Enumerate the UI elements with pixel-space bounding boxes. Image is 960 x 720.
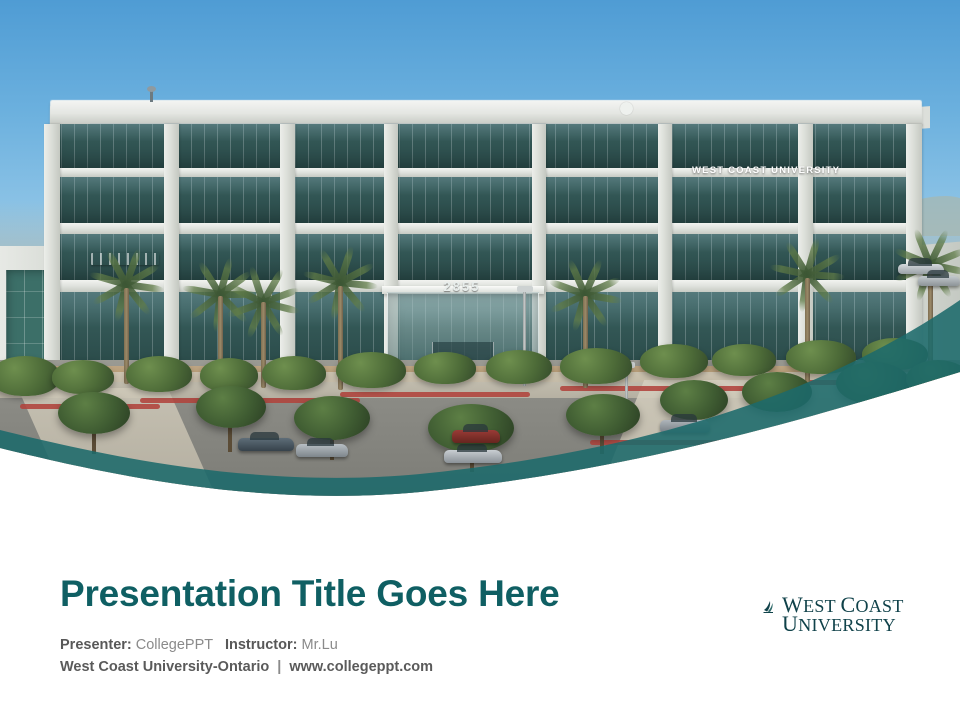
presenter-label: Presenter: <box>60 637 132 653</box>
page-title: Presentation Title Goes Here <box>60 573 560 615</box>
logo-line2-rest: NIVERSITY <box>798 615 896 635</box>
shrub <box>126 356 192 392</box>
wcu-wave-emblem-icon <box>762 599 778 615</box>
west-coast-university-logo: WEST COAST UNIVERSITY <box>762 596 912 636</box>
shrub <box>486 350 552 384</box>
logo-line1-second-rest: OAST <box>855 596 903 616</box>
shrub <box>0 356 60 396</box>
roof-antenna <box>150 90 153 102</box>
meta-separator: | <box>273 659 285 675</box>
building-facade-sign: WEST COAST UNIVERSITY <box>692 165 840 176</box>
ornamental-tree <box>836 362 910 404</box>
ornamental-tree <box>566 394 640 436</box>
ornamental-tree <box>196 386 266 428</box>
parked-car <box>452 430 500 443</box>
ornamental-tree <box>58 392 130 434</box>
red-curb <box>590 440 890 445</box>
ornamental-tree <box>742 372 812 412</box>
logo-line1-second-cap: C <box>840 592 855 617</box>
logo-wordmark: WEST COAST UNIVERSITY <box>782 596 904 634</box>
campus-building-photo: WEST COAST UNIVERSITY 2855 <box>0 0 960 500</box>
building-street-number: 2855 <box>387 279 537 294</box>
parked-car <box>444 450 502 463</box>
roof-satellite-dish <box>620 102 633 115</box>
shrub <box>560 348 632 384</box>
meta-line-organization: West Coast University-Ontario | www.coll… <box>60 656 433 678</box>
roof-parapet <box>50 100 922 124</box>
shrub <box>712 344 776 376</box>
logo-line-2: UNIVERSITY <box>782 615 904 634</box>
logo-line1-rest: EST <box>803 596 840 616</box>
presenter-metadata: Presenter: CollegePPT Instructor: Mr.Lu … <box>60 634 433 678</box>
parked-car <box>918 276 960 286</box>
organization-name: West Coast University-Ontario <box>60 659 269 675</box>
presentation-slide: WEST COAST UNIVERSITY 2855 <box>0 0 960 720</box>
red-curb <box>340 392 530 397</box>
hero-image-region: WEST COAST UNIVERSITY 2855 <box>0 0 960 500</box>
website-url: www.collegeppt.com <box>289 659 433 675</box>
shrub <box>52 360 114 394</box>
ornamental-tree <box>906 360 960 398</box>
instructor-value: Mr.Lu <box>302 637 338 653</box>
parked-car <box>660 420 710 433</box>
ornamental-tree <box>294 396 370 440</box>
facade-pier <box>44 124 60 384</box>
parked-car <box>296 444 348 457</box>
logo-line2-first-cap: U <box>782 611 798 636</box>
shrub <box>640 344 708 378</box>
shrub <box>336 352 406 388</box>
parked-car <box>238 438 294 451</box>
presenter-value: CollegePPT <box>136 637 213 653</box>
shrub <box>262 356 326 390</box>
facade-pier <box>164 124 179 384</box>
logo-line-1: WEST COAST <box>782 596 904 615</box>
meta-line-presenter: Presenter: CollegePPT Instructor: Mr.Lu <box>60 634 433 656</box>
instructor-label: Instructor: <box>225 637 298 653</box>
shrub <box>414 352 476 384</box>
